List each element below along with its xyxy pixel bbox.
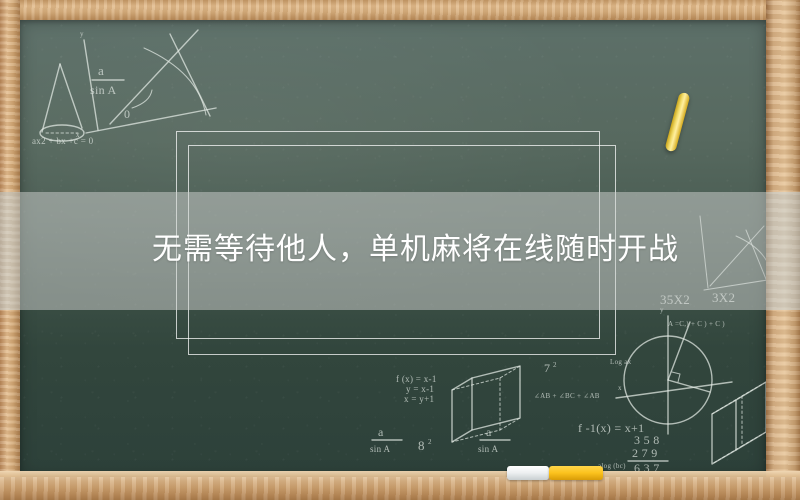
cone-diagram [40,64,84,141]
angle-arc-diagram: y x 0 [76,30,216,139]
frame-top-edge [0,0,800,20]
chalk-label-x-right: x [618,384,622,392]
yellow-chalk-on-ledge [549,466,603,480]
chalk-ledge [0,477,800,500]
chalk-text-sine3-a: a [486,425,492,439]
eraser [507,466,549,480]
chalk-label-theta: 0 [124,107,130,121]
chalk-label-x: x [76,131,80,139]
cube-left [452,366,520,442]
chalk-text-fx-2: y = x-1 [406,384,434,394]
chalk-text-angle-sum: ∠AB + ∠BC + ∠AB [534,392,600,400]
pie-circle-diagram: y x [616,306,732,434]
chalk-text-eight-exp: 2 [428,438,432,446]
chalk-text-inverse: f -1(x) = x+1 [578,421,644,435]
chalk-text-div-1: 3 5 8 [634,433,660,447]
chalk-text-eight: 8 [418,438,425,453]
chalk-text-fx-3: x = y+1 [404,394,434,404]
chalk-text-sine3-denom: sin A [478,444,498,454]
chalk-text-quadratic: ax2 + bx +c = 0 [32,136,94,146]
chalk-text-seven: 7 [544,361,550,375]
division-block: 3 5 8 2 7 9 6 3 7 [628,433,668,475]
chalk-label-y: y [80,30,84,38]
chalk-text-fx-1: f (x) = x-1 [396,374,437,384]
chalk-text-sine-a: a [98,63,104,78]
chalk-text-sine2-denom: sin A [370,444,390,454]
cube-right [712,382,766,464]
function-equations: f (x) = x-1 y = x-1 x = y+1 [396,374,437,404]
chalk-text-div-2: 2 7 9 [632,446,658,460]
chalk-text-sine-denom: sin A [90,83,117,97]
chalk-text-sine2-a: a [378,425,384,439]
chalk-text-vector-sum: A =C,) + C ) + C ) [668,320,725,328]
page-title: 无需等待他人，单机麻将在线随时开战 [152,232,679,268]
banner-image: a sin A ax2 + bx +c = 0 y x 0 f (x) = x-… [0,0,800,500]
chalk-text-seven-exp: 2 [553,361,557,369]
chalk-text-log-ax: Log ax [610,358,632,366]
